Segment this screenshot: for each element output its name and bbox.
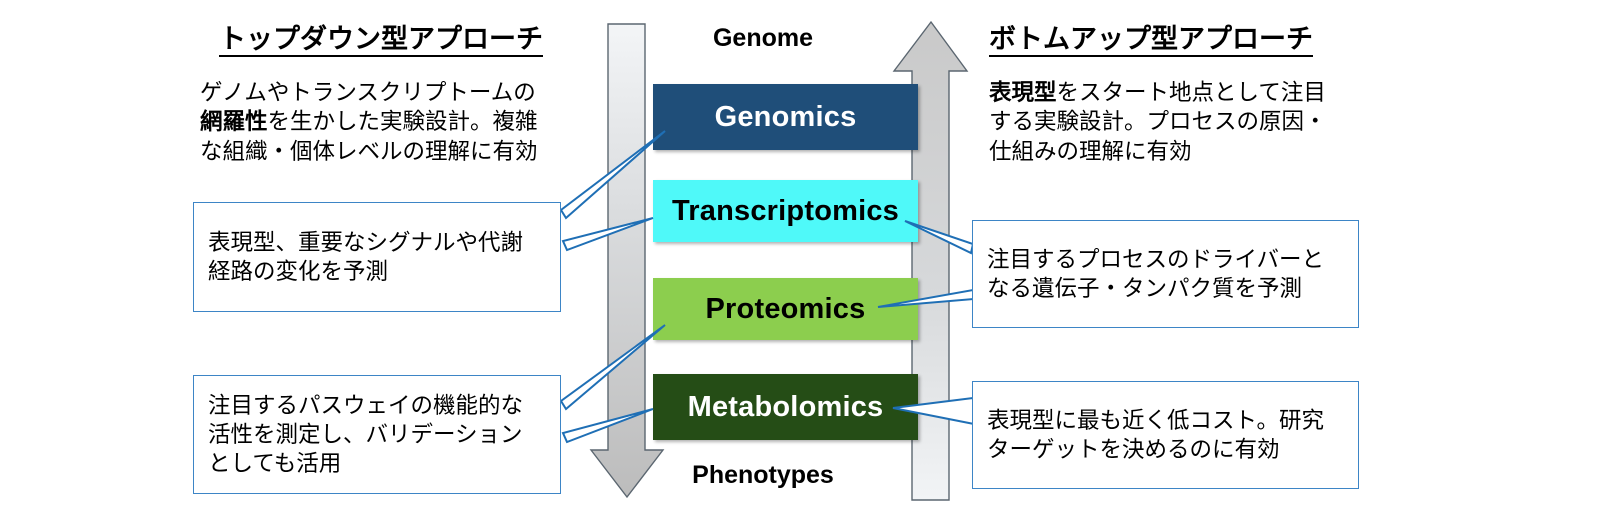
diagram-canvas: Genome Phenotypes Genomics Transcriptomi… [0, 0, 1600, 527]
connector-left1-to-genomics [561, 131, 665, 218]
right-body-line1: をスタート地点として注目 [1057, 80, 1326, 105]
callout-left-top-text: 表現型、重要なシグナルや代謝 経路の変化を予測 [194, 228, 560, 287]
callout-left-bottom[interactable]: 注目するパスウェイの機能的な 活性を測定し、バリデーション としても活用 [193, 375, 561, 494]
left-body-line1: ゲノムやトランスクリプトームの [200, 80, 536, 105]
callout-right-top[interactable]: 注目するプロセスのドライバーと なる遺伝子・タンパク質を予測 [972, 220, 1359, 328]
connector-left2-to-proteomics [561, 325, 665, 409]
left-column-body: ゲノムやトランスクリプトームの網羅性を生かした実験設計。複雑な組織・個体レベルの… [200, 78, 570, 166]
axis-label-phenotypes: Phenotypes [608, 461, 918, 490]
right-body-line3: 仕組みの理解に有効 [989, 139, 1192, 164]
callout-right-bottom[interactable]: 表現型に最も近く低コスト。研究 ターゲットを決めるのに有効 [972, 381, 1359, 489]
omics-box-proteomics[interactable]: Proteomics [653, 278, 918, 340]
left-body-line3: な組織・個体レベルの理解に有効 [200, 139, 538, 164]
omics-box-genomics[interactable]: Genomics [653, 84, 918, 150]
right-body-line2: する実験設計。プロセスの原因・ [989, 109, 1327, 134]
callout-left-bottom-text: 注目するパスウェイの機能的な 活性を測定し、バリデーション としても活用 [194, 391, 560, 479]
right-column-heading: ボトムアップ型アプローチ [989, 26, 1313, 57]
right-column-body: 表現型をスタート地点として注目する実験設計。プロセスの原因・仕組みの理解に有効 [989, 78, 1349, 166]
left-body-bold: 網羅性 [200, 109, 268, 134]
connector-left1-to-transcriptomics [563, 218, 653, 250]
callout-left-top[interactable]: 表現型、重要なシグナルや代謝 経路の変化を予測 [193, 202, 561, 312]
omics-label-genomics: Genomics [715, 101, 857, 134]
omics-label-metabolomics: Metabolomics [688, 391, 884, 424]
callout-right-top-text: 注目するプロセスのドライバーと なる遺伝子・タンパク質を予測 [973, 245, 1358, 304]
left-column-heading: トップダウン型アプローチ [219, 26, 543, 57]
callout-right-bottom-text: 表現型に最も近く低コスト。研究 ターゲットを決めるのに有効 [973, 406, 1358, 465]
left-body-line2: を生かした実験設計。複雑 [268, 109, 538, 134]
omics-label-transcriptomics: Transcriptomics [672, 195, 899, 228]
omics-label-proteomics: Proteomics [706, 293, 866, 326]
axis-label-genome: Genome [608, 24, 918, 53]
omics-box-transcriptomics[interactable]: Transcriptomics [653, 180, 918, 242]
right-body-bold: 表現型 [989, 80, 1057, 105]
connector-left2-to-metabolomics [563, 409, 653, 442]
omics-box-metabolomics[interactable]: Metabolomics [653, 374, 918, 440]
